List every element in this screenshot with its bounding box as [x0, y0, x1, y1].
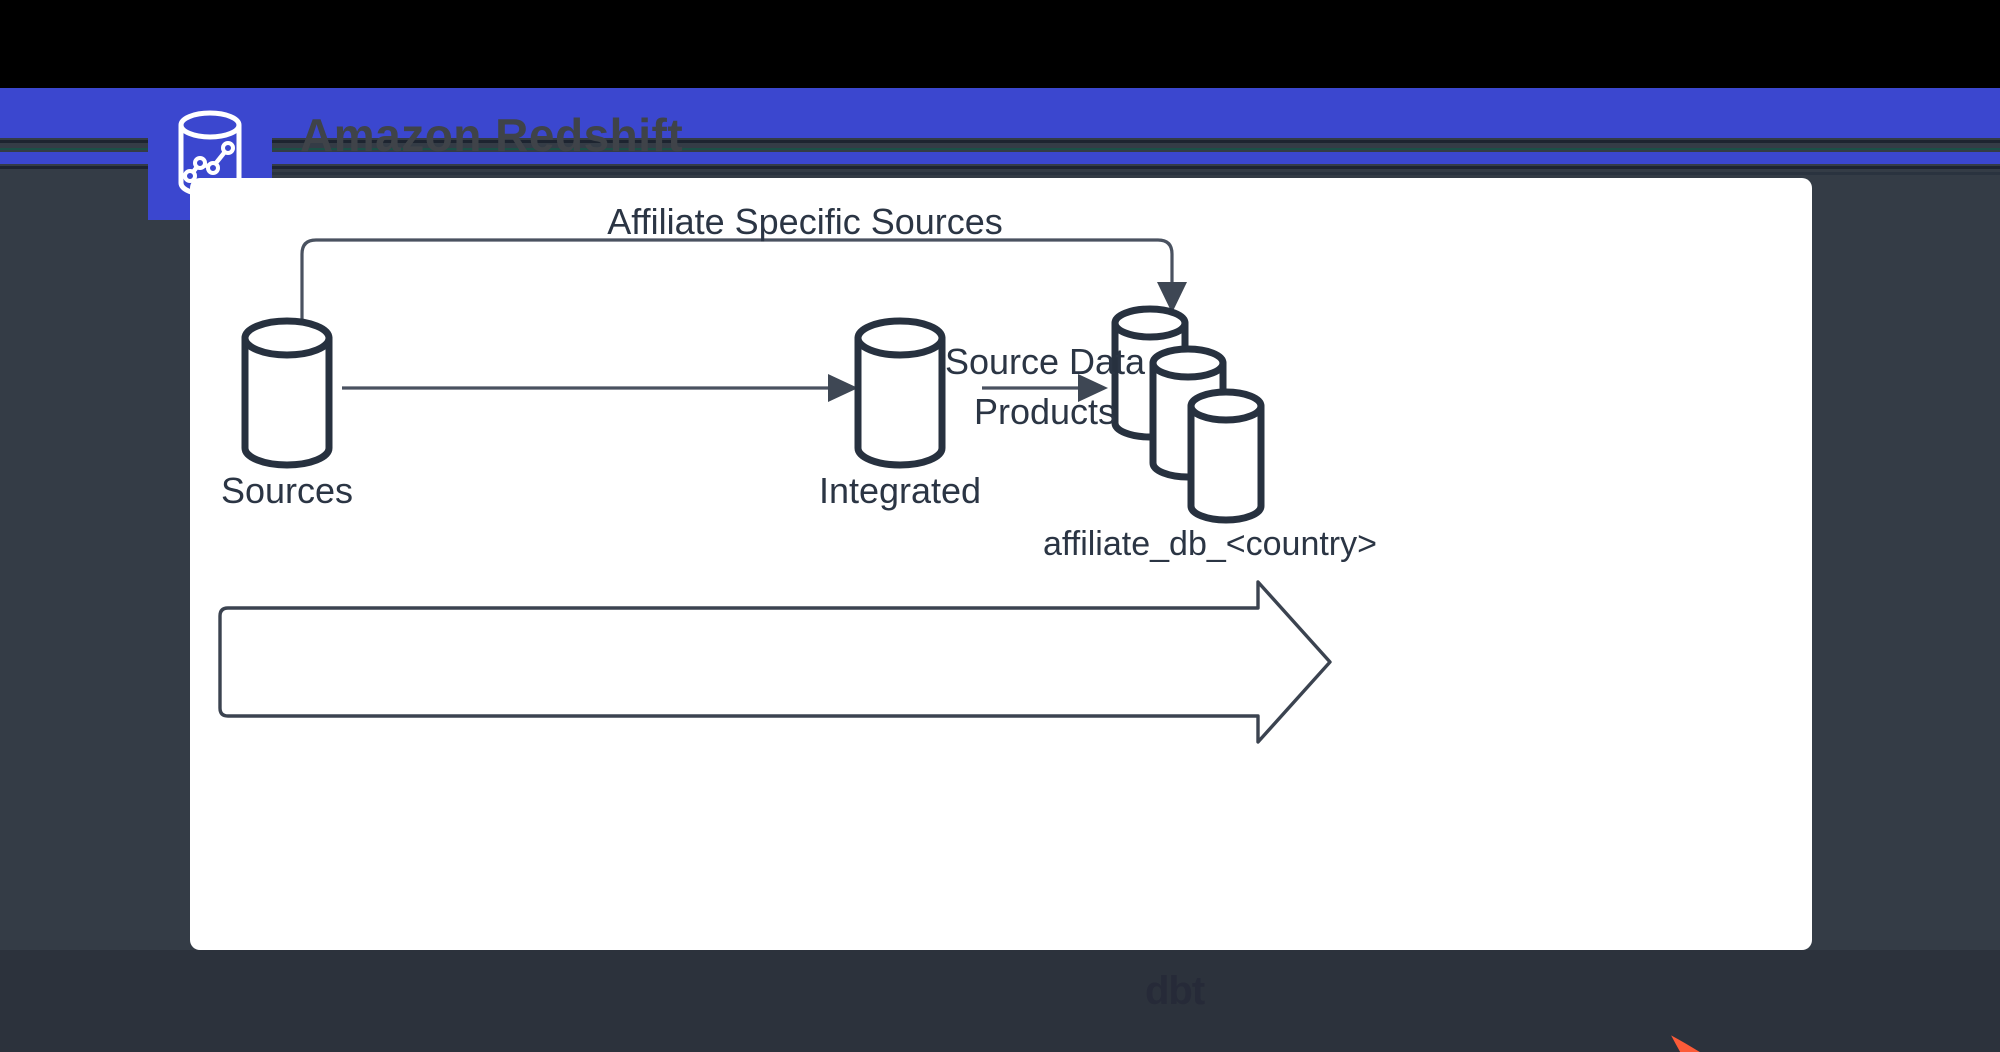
- node-label-affiliate-db: affiliate_db_<country>: [1043, 525, 1377, 563]
- dbt-x-icon: [1145, 971, 2000, 1052]
- node-sources: [245, 321, 329, 465]
- edge-affiliate-specific-sources: [302, 240, 1187, 408]
- edge-label-source-data-line1: Source Data: [945, 341, 1146, 382]
- node-label-integrated: Integrated: [819, 470, 981, 511]
- divider-line-4: [240, 172, 2000, 175]
- edge-sources-integrated: [342, 374, 858, 402]
- node-integrated: [858, 321, 942, 465]
- edge-label-affiliate-specific-sources: Affiliate Specific Sources: [607, 201, 1003, 242]
- screenshot-root: Amazon Redshift: [0, 0, 2000, 1052]
- node-label-sources: Sources: [221, 470, 353, 511]
- diagram-card: Affiliate Specific Sources Source Data P…: [190, 178, 1812, 950]
- edge-label-source-data-line2: Products: [974, 391, 1116, 432]
- dbt-transformation-banner: [220, 582, 1330, 742]
- page-title: Amazon Redshift: [300, 112, 683, 158]
- dbt-logo: dbt: [1145, 971, 1204, 1011]
- divider-line-3: [0, 166, 2000, 169]
